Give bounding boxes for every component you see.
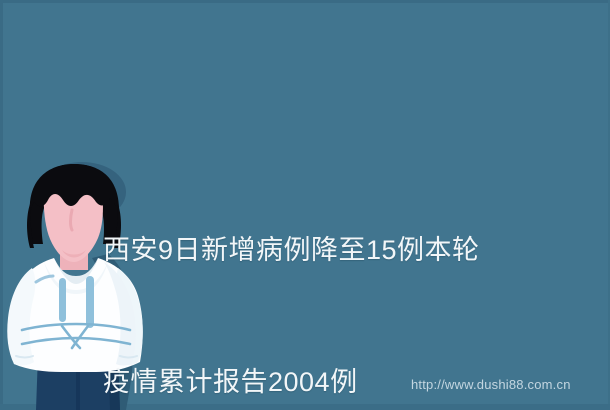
nose bbox=[71, 210, 73, 230]
watermark-url: http://www.dushi88.com.cn bbox=[411, 377, 571, 392]
promo-card: 西安9日新增病例降至15例本轮 疫情累计报告2004例 http://www.d… bbox=[0, 0, 610, 410]
headline-line-1: 西安9日新增病例降至15例本轮 bbox=[103, 228, 563, 272]
headline: 西安9日新增病例降至15例本轮 疫情累计报告2004例 bbox=[103, 140, 563, 410]
card-edge-top bbox=[0, 0, 610, 3]
